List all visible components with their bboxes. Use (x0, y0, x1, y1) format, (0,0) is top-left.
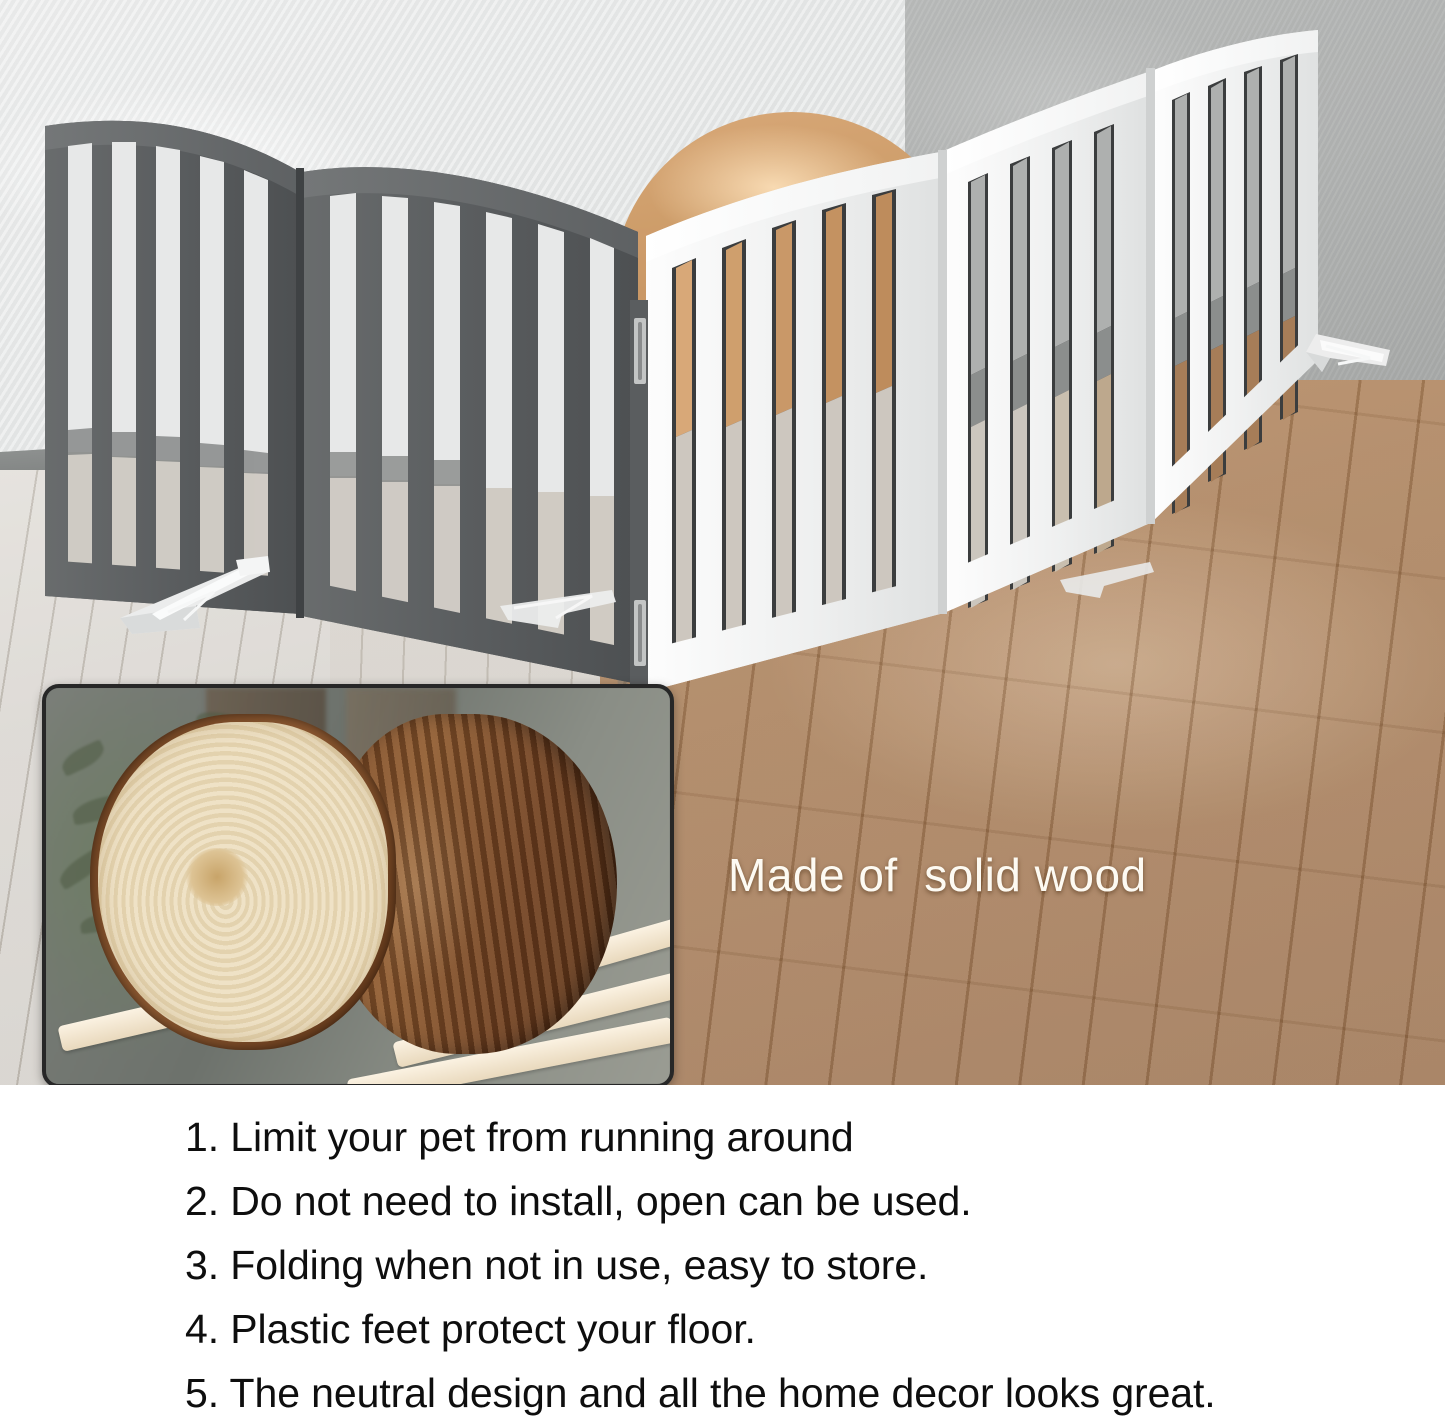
panel-joint-4-5 (1146, 68, 1155, 524)
feature-list: 1. Limit your pet from running around 2.… (0, 1092, 1445, 1424)
feature-item-1: 1. Limit your pet from running around (185, 1114, 854, 1161)
product-image-page: Made of solid wood 1. Limit your pet fro… (0, 0, 1445, 1424)
support-foot-right (1306, 334, 1390, 372)
feature-item-2: 2. Do not need to install, open can be u… (185, 1178, 972, 1225)
gate-panel-4-white (946, 72, 1148, 612)
panel-joint-3-4 (938, 150, 947, 614)
feature-item-4: 4. Plastic feet protect your floor. (185, 1306, 756, 1353)
support-foot-panel4 (1060, 562, 1154, 598)
gate-panel-1-gray (45, 121, 300, 614)
overlay-caption-solid-wood: Made of solid wood (728, 848, 1147, 902)
feature-item-3: 3. Folding when not in use, easy to stor… (185, 1242, 928, 1289)
log-heartwood-core (186, 848, 248, 906)
gate-panel-3-white (646, 152, 940, 692)
gate-panel-5-white (1154, 30, 1318, 520)
product-photo: Made of solid wood (0, 0, 1445, 1085)
inset-log-photo (42, 684, 674, 1085)
panel-joint-1-2 (296, 168, 304, 618)
feature-item-5: 5. The neutral design and all the home d… (185, 1370, 1216, 1417)
